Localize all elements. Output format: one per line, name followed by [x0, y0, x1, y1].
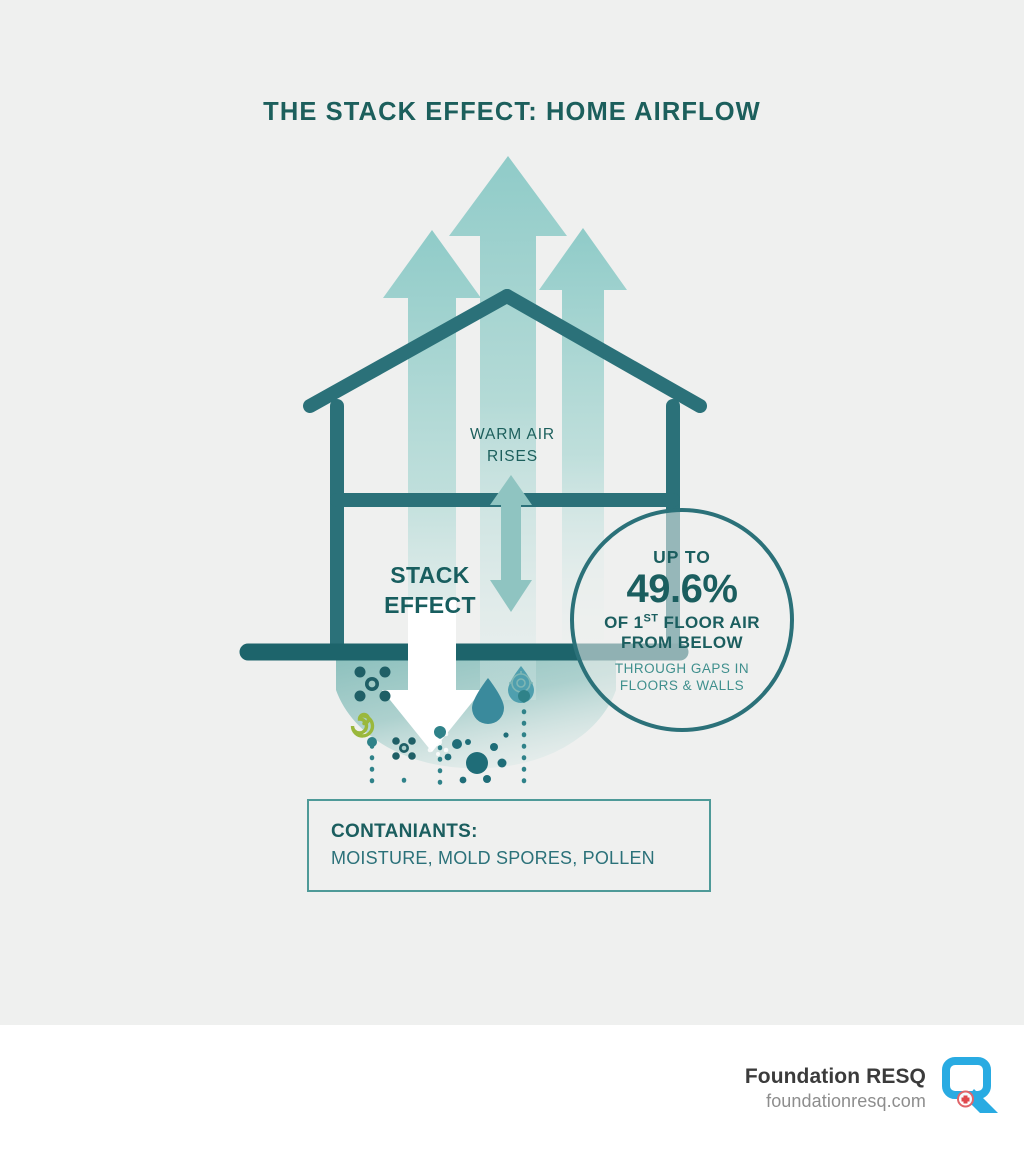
- stat-floor-post: FLOOR AIR: [658, 613, 760, 632]
- stack-effect-label: STACK EFFECT: [330, 560, 530, 620]
- contaminants-heading: CONTANIANTS:: [331, 819, 709, 845]
- page-title: THE STACK EFFECT: HOME AIRFLOW: [0, 98, 1024, 127]
- stat-up-to-label: UP TO: [653, 547, 711, 567]
- stack-effect-line-2: EFFECT: [330, 590, 530, 620]
- footer-text-block: Foundation RESQ foundationresq.com: [745, 1064, 926, 1113]
- stat-subtext: THROUGH GAPS IN FLOORS & WALLS: [615, 660, 749, 694]
- stat-subtext-line-2: FLOORS & WALLS: [615, 677, 749, 694]
- warm-air-label: WARM AIR RISES: [440, 424, 585, 468]
- stat-subtext-line-1: THROUGH GAPS IN: [615, 660, 749, 677]
- contaminants-box: CONTANIANTS: MOISTURE, MOLD SPORES, POLL…: [307, 799, 711, 892]
- stat-from-below-line: FROM BELOW: [621, 633, 743, 653]
- stat-floor-ordinal: ST: [643, 612, 658, 624]
- statistic-badge: UP TO 49.6% OF 1ST FLOOR AIR FROM BELOW …: [570, 508, 794, 732]
- warm-air-line-1: WARM AIR: [440, 424, 585, 446]
- resq-q-logo-icon: [940, 1055, 1006, 1121]
- infographic-root: THE STACK EFFECT: HOME AIRFLOW WARM AIR …: [0, 0, 1024, 1154]
- stat-percent-value: 49.6%: [627, 568, 738, 611]
- stat-floor-pre: OF 1: [604, 613, 643, 632]
- brand-name: Foundation RESQ: [745, 1064, 926, 1090]
- footer-branding: Foundation RESQ foundationresq.com: [745, 1055, 1006, 1121]
- contaminants-list: MOISTURE, MOLD SPORES, POLLEN: [331, 845, 709, 871]
- warm-air-line-2: RISES: [440, 446, 585, 468]
- stat-floor-line: OF 1ST FLOOR AIR: [604, 613, 760, 633]
- stack-effect-line-1: STACK: [330, 560, 530, 590]
- brand-url[interactable]: foundationresq.com: [745, 1090, 926, 1113]
